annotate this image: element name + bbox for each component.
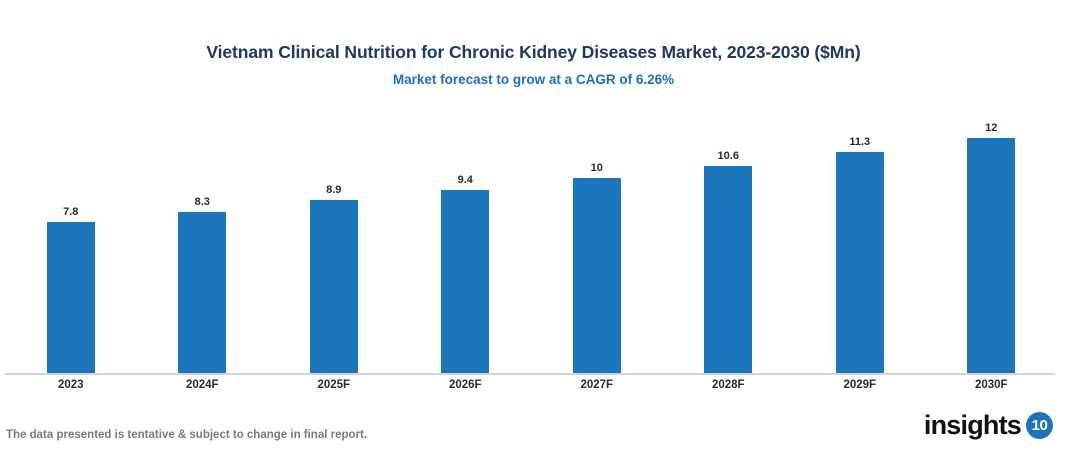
bar-value-label: 8.9 xyxy=(326,184,341,196)
x-axis-tick-label: 2024F xyxy=(137,378,269,392)
x-axis-tick-label: 2026F xyxy=(400,378,532,392)
page-title: Vietnam Clinical Nutrition for Chronic K… xyxy=(0,40,1067,64)
chart-card: Vietnam Clinical Nutrition for Chronic K… xyxy=(0,0,1067,454)
bar-group: 8.3 xyxy=(137,110,269,374)
bar-group: 11.3 xyxy=(794,110,926,374)
bar-rect[interactable] xyxy=(178,212,226,374)
bar-group: 10.6 xyxy=(663,110,795,374)
bar-group: 8.9 xyxy=(268,110,400,374)
bar-rect[interactable] xyxy=(967,138,1015,374)
bar-rect[interactable] xyxy=(704,166,752,374)
bar-group: 10 xyxy=(531,110,663,374)
bar-rect[interactable] xyxy=(310,200,358,374)
x-axis-tick-label: 2030F xyxy=(926,378,1058,392)
x-axis-tick-label: 2027F xyxy=(531,378,663,392)
bar-value-label: 7.8 xyxy=(63,206,78,218)
logo-badge-icon: 10 xyxy=(1026,412,1053,439)
x-axis-labels: 2023 2024F 2025F 2026F 2027F 2028F 2029F… xyxy=(5,378,1057,392)
plot-area: 7.8 8.3 8.9 9.4 10 10.6 xyxy=(5,110,1057,374)
bar-value-label: 12 xyxy=(985,122,997,134)
bar-group: 12 xyxy=(926,110,1058,374)
x-axis-tick-label: 2025F xyxy=(268,378,400,392)
bar-value-label: 8.3 xyxy=(195,196,210,208)
bar-group: 7.8 xyxy=(5,110,137,374)
bar-value-label: 9.4 xyxy=(458,174,473,186)
x-axis-tick-label: 2028F xyxy=(663,378,795,392)
bar-rect[interactable] xyxy=(836,152,884,374)
title-block: Vietnam Clinical Nutrition for Chronic K… xyxy=(0,40,1067,89)
x-axis-tick-label: 2023 xyxy=(5,378,137,392)
logo-wordmark: insights xyxy=(924,411,1021,439)
x-axis-tick-label: 2029F xyxy=(794,378,926,392)
disclaimer-note: The data presented is tentative & subjec… xyxy=(6,428,367,442)
chart-subtitle: Market forecast to grow at a CAGR of 6.2… xyxy=(0,71,1067,89)
bar-value-label: 11.3 xyxy=(849,136,870,148)
x-axis-line xyxy=(5,373,1055,375)
bar-group: 9.4 xyxy=(400,110,532,374)
bar-rect[interactable] xyxy=(441,190,489,374)
insights10-logo: insights 10 xyxy=(924,408,1053,442)
bar-series: 7.8 8.3 8.9 9.4 10 10.6 xyxy=(5,110,1057,374)
bar-rect[interactable] xyxy=(47,222,95,374)
bar-value-label: 10.6 xyxy=(718,150,739,162)
bar-rect[interactable] xyxy=(573,178,621,374)
bar-value-label: 10 xyxy=(591,162,603,174)
